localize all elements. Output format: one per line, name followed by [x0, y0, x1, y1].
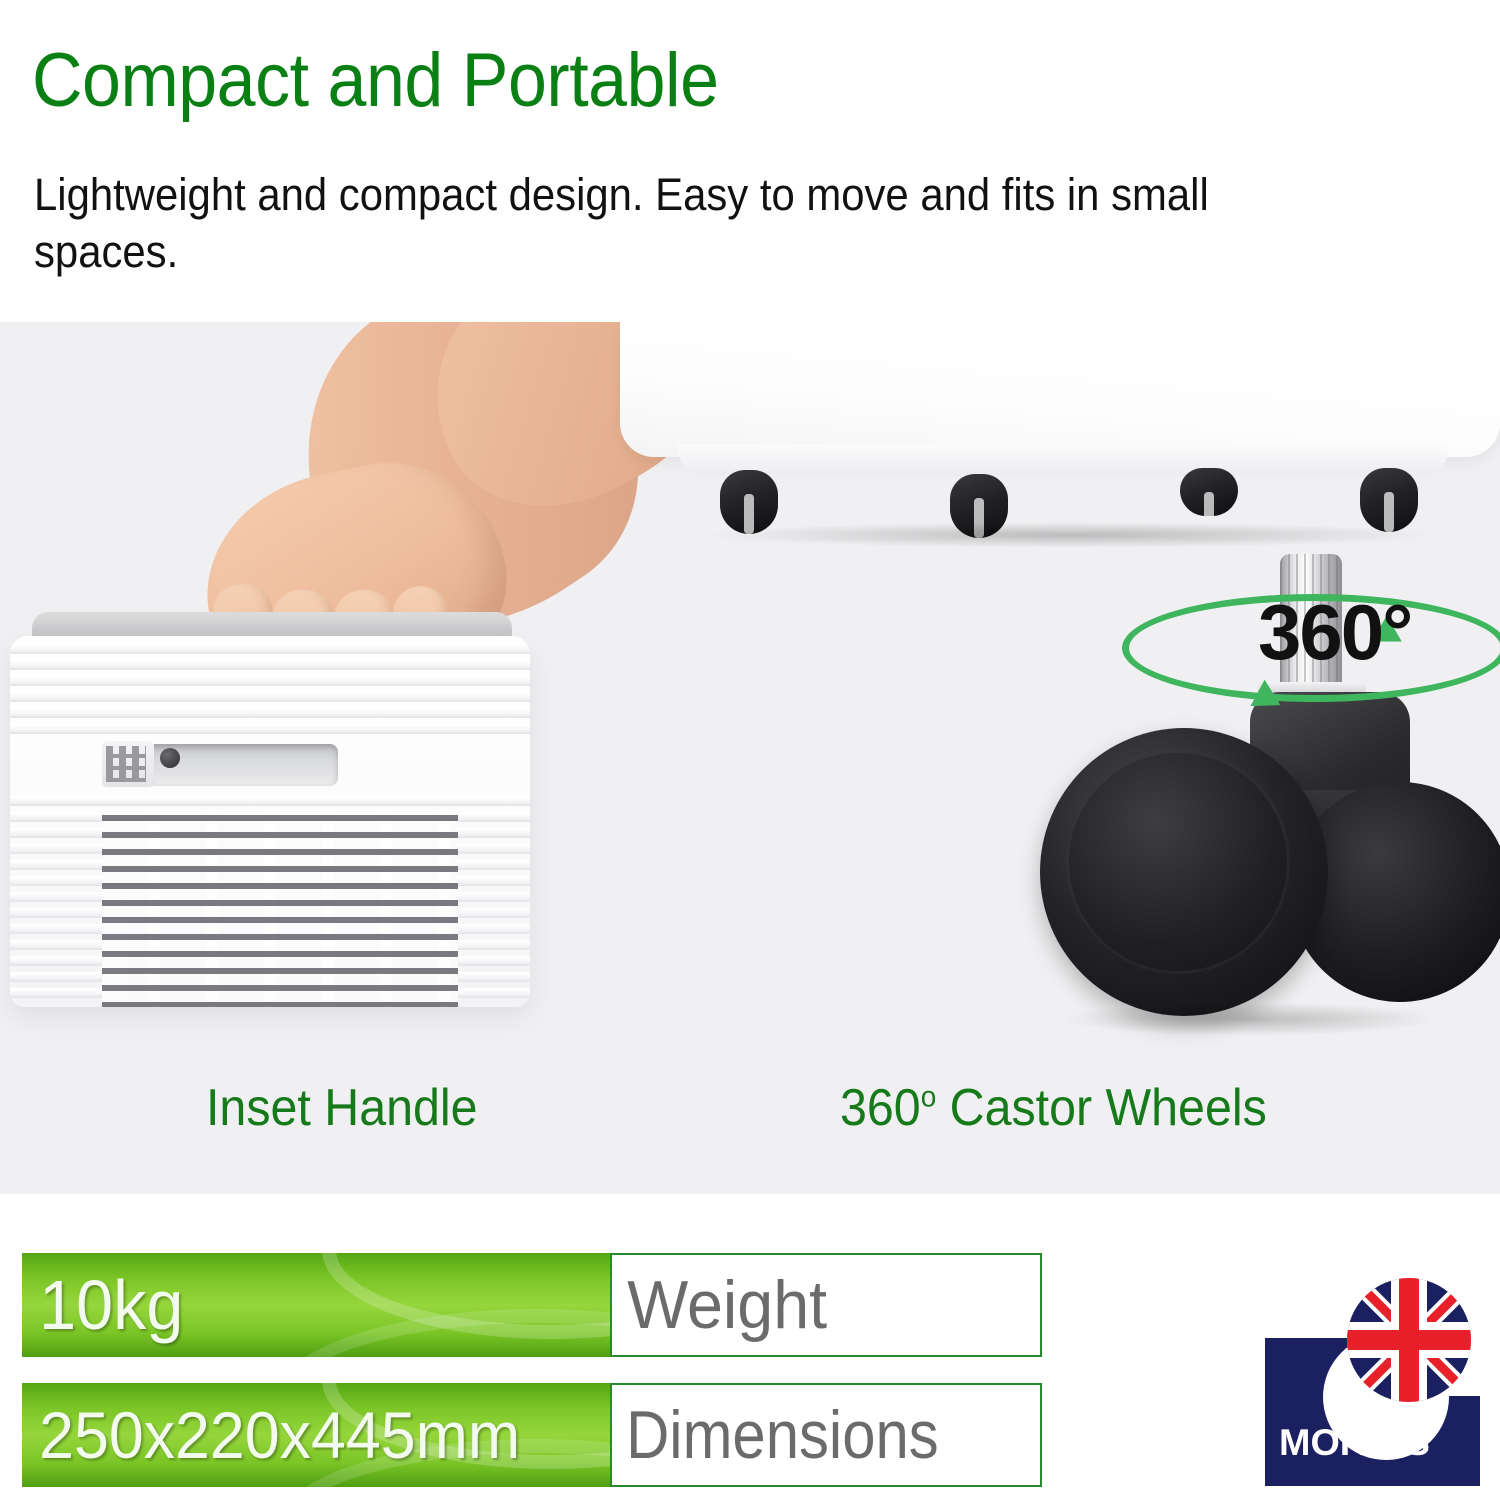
control-panel-indicator-grid: [106, 746, 146, 782]
spec-value-text: 10kg: [22, 1265, 183, 1345]
rotation-degree-badge: 360°: [1258, 587, 1411, 678]
header-section: Compact and Portable Lightweight and com…: [0, 0, 1500, 322]
spec-label-text: Dimensions: [612, 1396, 939, 1474]
spec-value-text: 250x220x445mm: [22, 1397, 520, 1473]
inset-handle-photo: [0, 322, 600, 1122]
page-subtitle: Lightweight and compact design. Easy to …: [34, 166, 1336, 280]
appliance-base-lip: [678, 444, 1448, 476]
page-title: Compact and Portable: [32, 38, 719, 124]
spec-row-dimensions: 250x220x445mm Dimensions: [22, 1383, 1042, 1487]
spec-label-panel: Dimensions: [610, 1383, 1042, 1487]
spec-value-panel: 250x220x445mm: [22, 1383, 610, 1487]
caption-castor-wheels: 360o Castor Wheels: [840, 1078, 1267, 1138]
castor-front-wheel: [1040, 728, 1328, 1016]
degree-symbol-icon: o: [921, 1081, 937, 1114]
caption-castor-number: 360: [840, 1079, 921, 1137]
front-grille-vents: [102, 812, 458, 1007]
castor-wheel-closeup-photo: 360°: [1000, 532, 1500, 1152]
unit-body: [10, 636, 530, 1007]
caption-castor-rest: Castor Wheels: [936, 1079, 1267, 1137]
swoosh-decoration: [272, 1309, 610, 1357]
spec-label-text: Weight: [612, 1266, 827, 1344]
dehumidifier-unit: [10, 612, 530, 1007]
caption-inset-handle: Inset Handle: [206, 1078, 478, 1138]
union-jack-roundel-icon: [1347, 1278, 1471, 1402]
logo-brand-text: MORRIS: [1279, 1422, 1430, 1464]
spec-value-panel: 10kg: [22, 1253, 610, 1357]
spec-label-panel: Weight: [610, 1253, 1042, 1357]
castor-drop-shadow: [1060, 1002, 1440, 1036]
appliance-base-body: [620, 322, 1500, 457]
feature-photo-panel: 360° Inset Handle 360o Castor Wheels: [0, 322, 1500, 1194]
morris-brand-logo: MORRIS: [1265, 1278, 1480, 1488]
spec-row-weight: 10kg Weight: [22, 1253, 1042, 1357]
castor-wheel-small: [1180, 468, 1238, 516]
power-button-icon: [160, 748, 180, 768]
